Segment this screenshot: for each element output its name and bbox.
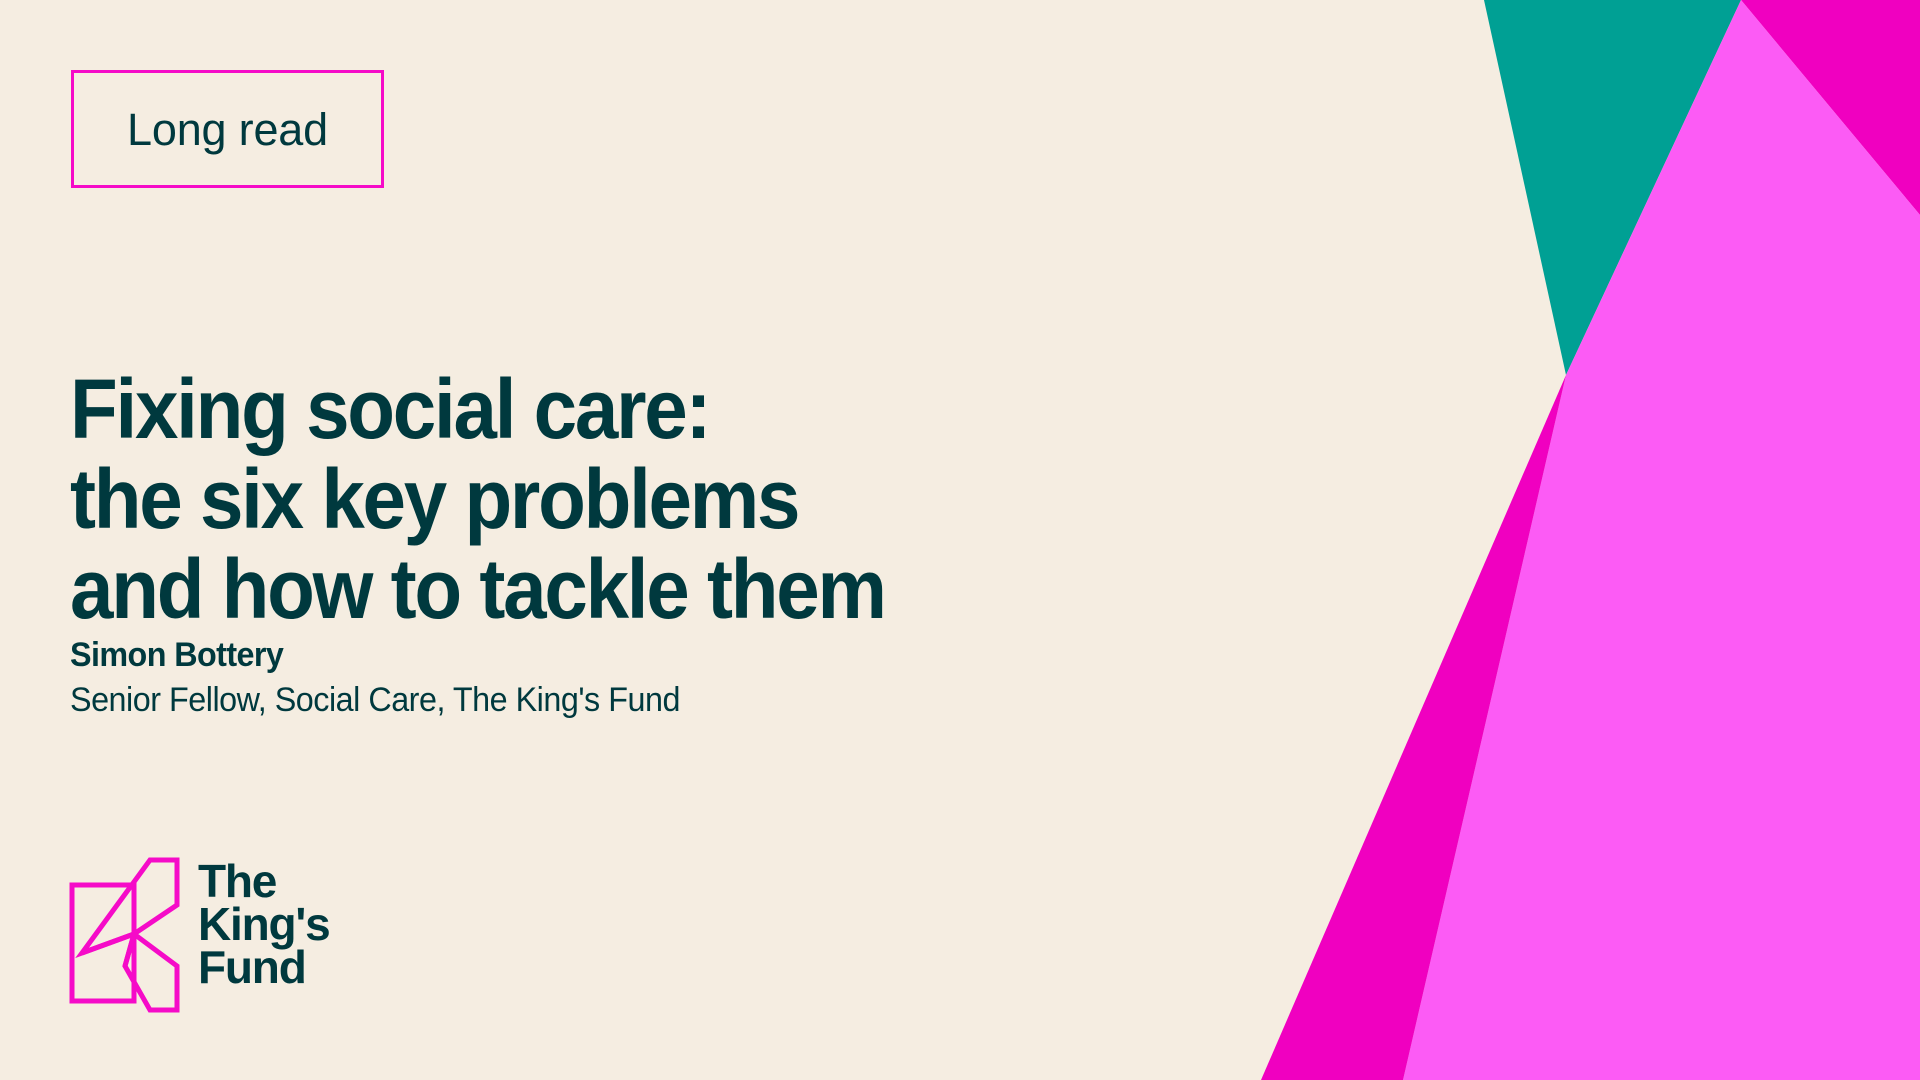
wordmark-line-1: The: [198, 860, 330, 903]
long-read-badge-label: Long read: [127, 107, 328, 152]
kings-fund-logo: The King's Fund: [68, 856, 330, 1014]
long-read-cover-card: Long read Fixing social care: the six ke…: [0, 0, 1920, 1080]
author-name: Simon Bottery: [70, 633, 680, 677]
long-read-badge: Long read: [71, 70, 384, 188]
author-role: Senior Fellow, Social Care, The King's F…: [70, 677, 680, 723]
page-title-line-2: the six key problems: [70, 454, 1009, 544]
wordmark-line-2: King's: [198, 903, 330, 946]
kings-fund-k-mark-icon: [68, 856, 180, 1014]
cover-content: Long read Fixing social care: the six ke…: [0, 0, 1100, 1080]
wordmark-line-3: Fund: [198, 946, 330, 989]
page-title: Fixing social care: the six key problems…: [70, 364, 1009, 634]
byline: Simon Bottery Senior Fellow, Social Care…: [70, 633, 680, 723]
page-title-line-1: Fixing social care:: [70, 364, 1009, 454]
kings-fund-wordmark: The King's Fund: [198, 860, 330, 989]
page-title-line-3: and how to tackle them: [70, 544, 1009, 634]
